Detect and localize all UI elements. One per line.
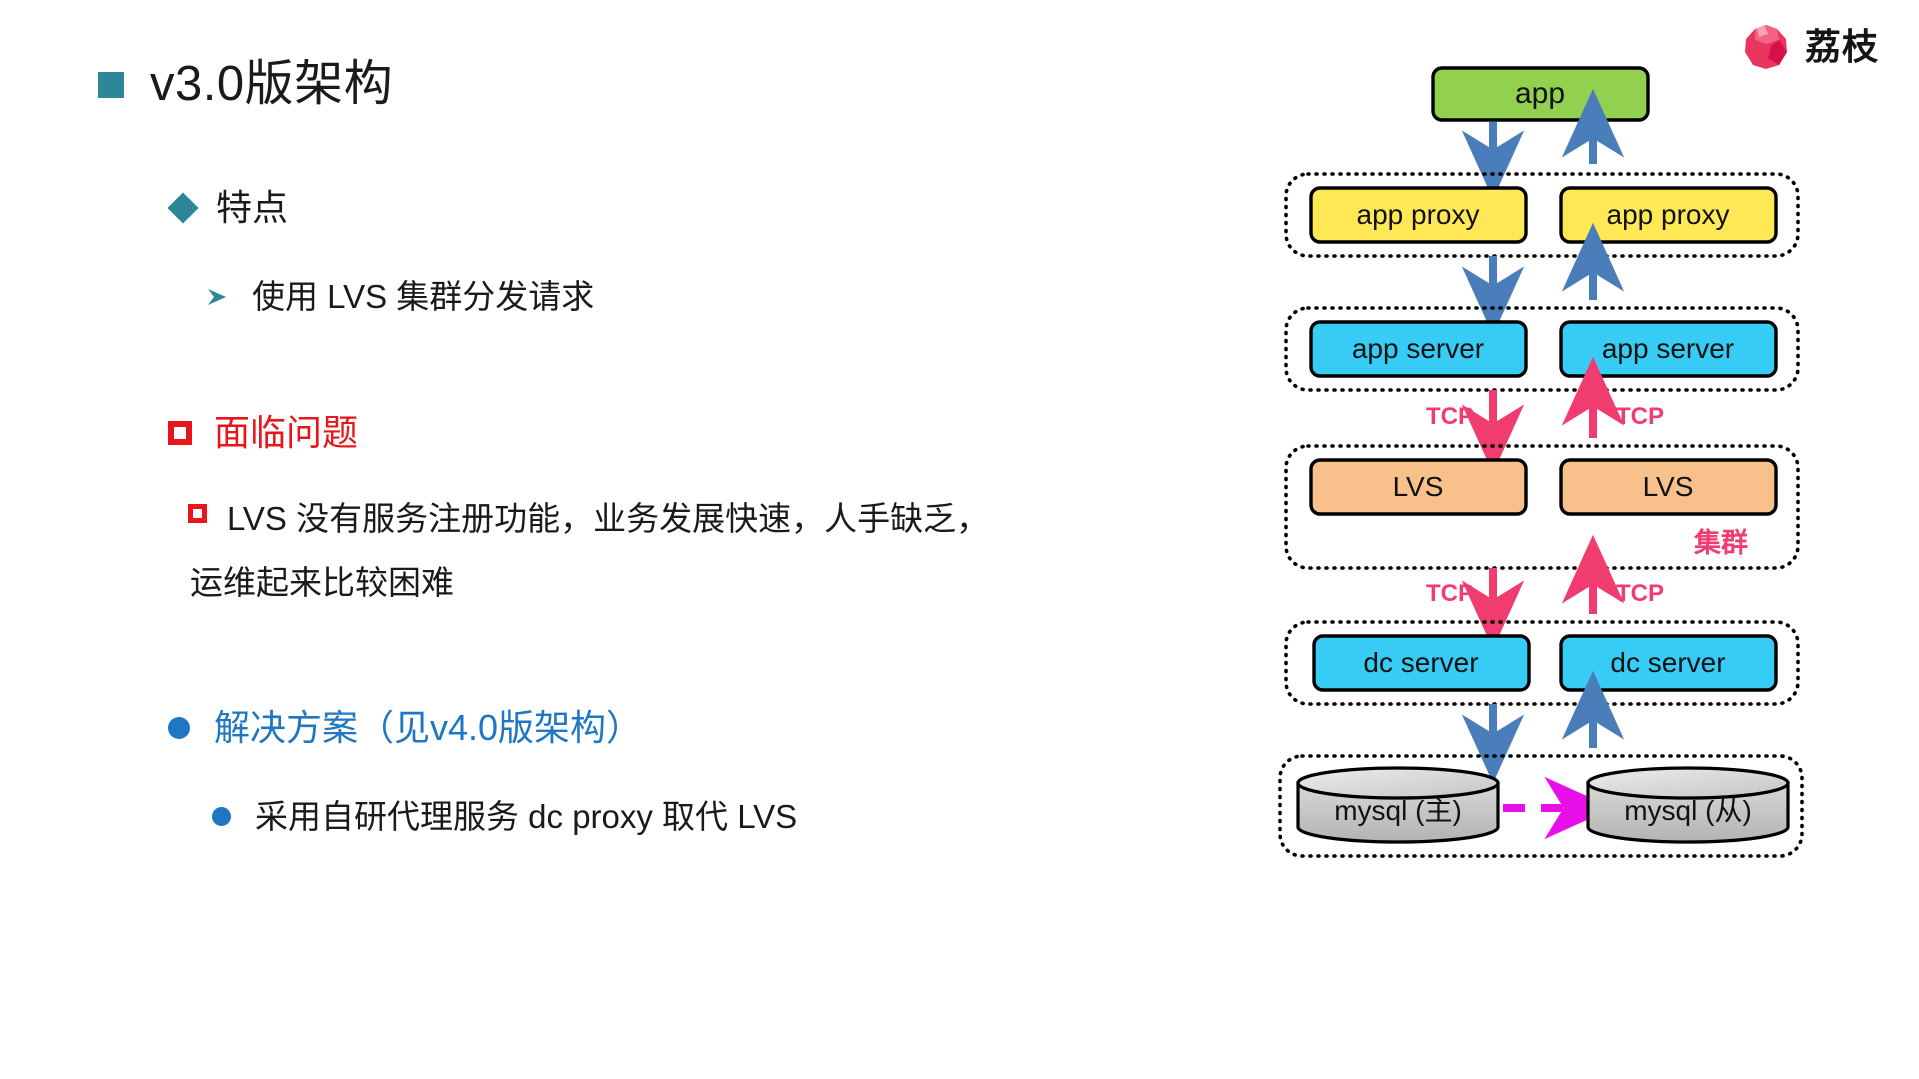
edge-label-tcp-1: TCP: [1426, 403, 1474, 430]
solution-item-label: 采用自研代理服务 dc proxy 取代 LVS: [255, 800, 797, 833]
node-mysql-master: mysql (主): [1298, 768, 1498, 842]
problem-heading-label: 面临问题: [214, 415, 358, 451]
node-dc-server-right-label: dc server: [1610, 647, 1725, 678]
group-lvs-cluster: LVS LVS 集群: [1286, 446, 1798, 568]
hollow-square-bullet-small-icon: [188, 504, 207, 523]
architecture-diagram: app app proxy app proxy app server: [1278, 56, 1858, 966]
node-lvs-left-label: LVS: [1393, 471, 1444, 502]
feature-item-label: 使用 LVS 集群分发请求: [252, 280, 594, 313]
node-app-server-right-label: app server: [1602, 333, 1734, 364]
node-app: app: [1433, 68, 1648, 120]
group-app-proxy: app proxy app proxy: [1286, 174, 1798, 256]
node-mysql-slave-label: mysql (从): [1624, 795, 1752, 826]
diamond-bullet-icon: [167, 192, 198, 223]
label-cluster: 集群: [1693, 527, 1748, 558]
title-text: v3.0版架构: [150, 60, 393, 109]
circle-bullet-icon: [168, 717, 190, 739]
group-app-server: app server app server: [1286, 308, 1798, 390]
problem-detail-line2: 运维起来比较困难: [190, 559, 1148, 607]
problem-detail: LVS 没有服务注册功能，业务发展快速，人手缺乏， 运维起来比较困难: [188, 495, 1148, 607]
features-heading: 特点: [172, 190, 288, 226]
edge-label-tcp-2: TCP: [1616, 403, 1664, 430]
node-dc-server-left-label: dc server: [1363, 647, 1478, 678]
feature-item: 使用 LVS 集群分发请求: [206, 280, 594, 313]
solution-heading-label: 解决方案（见v4.0版架构）: [214, 710, 642, 746]
node-app-proxy-left-label: app proxy: [1357, 199, 1480, 230]
solution-heading: 解决方案（见v4.0版架构）: [168, 710, 642, 746]
hollow-square-bullet-icon: [168, 421, 192, 445]
solution-item: 采用自研代理服务 dc proxy 取代 LVS: [212, 800, 797, 833]
problem-heading: 面临问题: [168, 415, 358, 451]
group-mysql: mysql (主) mysql (从): [1280, 756, 1802, 856]
arrow-bullet-icon: [206, 286, 228, 308]
edge-label-tcp-3: TCP: [1426, 580, 1474, 607]
group-dc-server: dc server dc server: [1286, 622, 1798, 704]
node-app-label: app: [1515, 77, 1565, 110]
square-bullet-icon: [98, 72, 124, 98]
slide-text-column: v3.0版架构 特点 使用 LVS 集群分发请求 面临问题 LVS 没有服务注册…: [0, 0, 1250, 1079]
node-app-server-left-label: app server: [1352, 333, 1484, 364]
features-heading-label: 特点: [216, 190, 288, 226]
node-mysql-master-label: mysql (主): [1334, 795, 1462, 826]
node-lvs-right-label: LVS: [1643, 471, 1694, 502]
node-mysql-slave: mysql (从): [1588, 768, 1788, 842]
circle-bullet-small-icon: [212, 807, 231, 826]
page-title: v3.0版架构: [98, 60, 393, 109]
problem-detail-line1: LVS 没有服务注册功能，业务发展快速，人手缺乏，: [227, 495, 989, 543]
node-app-proxy-right-label: app proxy: [1607, 199, 1730, 230]
slide-root: v3.0版架构 特点 使用 LVS 集群分发请求 面临问题 LVS 没有服务注册…: [0, 0, 1919, 1079]
edge-label-tcp-4: TCP: [1616, 580, 1664, 607]
